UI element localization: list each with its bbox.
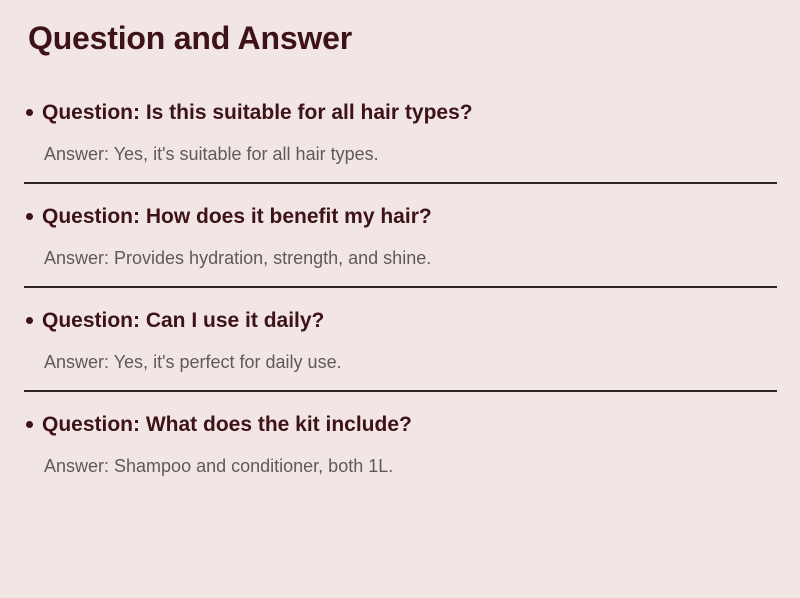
faq-item: Question: What does the kit include? Ans…: [0, 402, 800, 484]
faq-divider: [24, 390, 777, 392]
faq-question: Question: Can I use it daily?: [0, 298, 800, 334]
faq-divider: [24, 286, 777, 288]
faq-item: Question: Is this suitable for all hair …: [0, 90, 800, 184]
faq-answer: Answer: Shampoo and conditioner, both 1L…: [0, 438, 800, 484]
page-title: Question and Answer: [28, 18, 352, 58]
faq-answer: Answer: Yes, it's perfect for daily use.: [0, 334, 800, 380]
faq-divider: [24, 182, 777, 184]
faq-question: Question: What does the kit include?: [0, 402, 800, 438]
faq-item: Question: How does it benefit my hair? A…: [0, 194, 800, 288]
faq-answer: Answer: Provides hydration, strength, an…: [0, 230, 800, 276]
faq-page: Question and Answer Question: Is this su…: [0, 0, 800, 598]
faq-list: Question: Is this suitable for all hair …: [0, 90, 800, 484]
faq-question: Question: Is this suitable for all hair …: [0, 90, 800, 126]
faq-question: Question: How does it benefit my hair?: [0, 194, 800, 230]
faq-item: Question: Can I use it daily? Answer: Ye…: [0, 298, 800, 392]
faq-answer: Answer: Yes, it's suitable for all hair …: [0, 126, 800, 172]
